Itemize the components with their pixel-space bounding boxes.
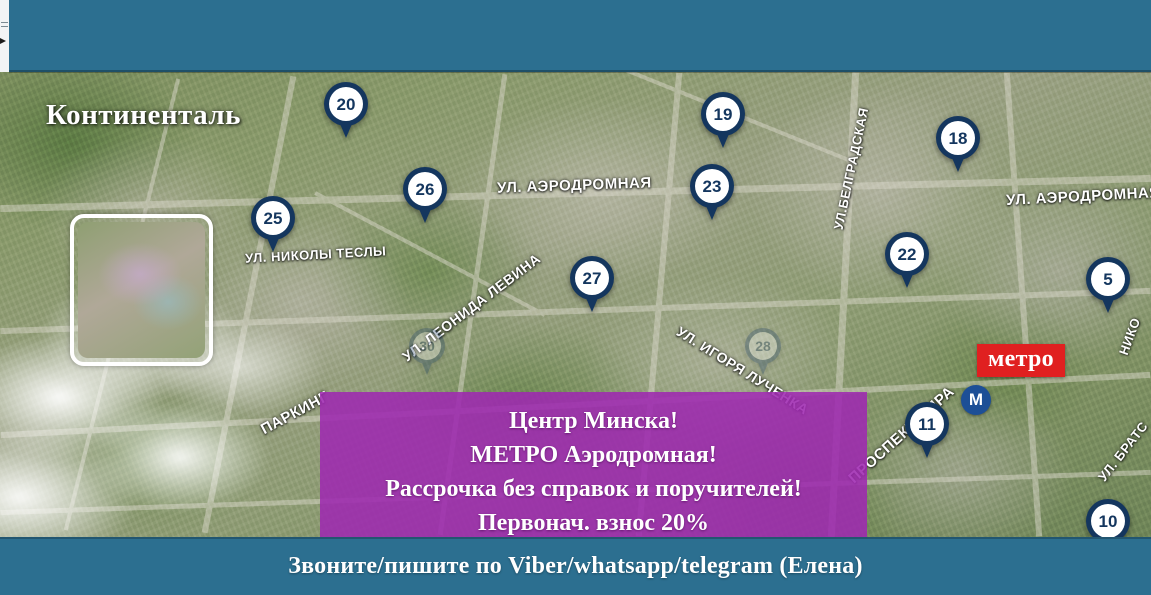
caret-right-icon[interactable]	[0, 38, 6, 44]
promo-line-2: МЕТРО Аэродромная!	[470, 438, 716, 472]
map-pin-11[interactable]: 11	[905, 402, 949, 460]
map-pin-5[interactable]: 5	[1086, 257, 1130, 315]
pin-number: 19	[706, 97, 740, 131]
pin-number: 28	[749, 332, 777, 360]
promo-slide: Континенталь УЛ. АЭРОДРОМНАЯ УЛ. АЭРОДРО…	[0, 0, 1151, 595]
pin-number: 5	[1091, 262, 1125, 296]
highlighted-complex-box[interactable]	[70, 214, 213, 366]
pin-number: 23	[695, 169, 729, 203]
bottom-banner-edge	[0, 537, 1151, 539]
pin-number: 22	[890, 237, 924, 271]
map-pin-26[interactable]: 26	[403, 167, 447, 225]
page-title: Континенталь	[46, 99, 241, 132]
map-pin-25[interactable]: 25	[251, 196, 295, 254]
bottom-banner: Звоните/пишите по Viber/whatsapp/telegra…	[0, 537, 1151, 595]
map-pin-22[interactable]: 22	[885, 232, 929, 290]
highlighted-complex-fill	[78, 222, 205, 358]
map-pin-20[interactable]: 20	[324, 82, 368, 140]
pin-number: 20	[329, 87, 363, 121]
edge-tick-2	[1, 26, 8, 27]
satellite-map[interactable]: Континенталь УЛ. АЭРОДРОМНАЯ УЛ. АЭРОДРО…	[0, 72, 1151, 537]
pin-number: 30	[413, 332, 441, 360]
map-pin-19[interactable]: 19	[701, 92, 745, 150]
pin-number: 26	[408, 172, 442, 206]
pin-number: 18	[941, 121, 975, 155]
promo-line-3: Рассрочка без справок и поручителей!	[385, 472, 802, 506]
pin-number: 27	[575, 261, 609, 295]
left-edge-strip	[0, 0, 9, 72]
map-pin-10[interactable]: 10	[1086, 499, 1130, 537]
map-pin-27[interactable]: 27	[570, 256, 614, 314]
pin-number: 10	[1091, 504, 1125, 537]
map-pin-23[interactable]: 23	[690, 164, 734, 222]
top-banner	[0, 0, 1151, 72]
map-pin-28[interactable]: 28	[745, 328, 781, 376]
pin-number: 25	[256, 201, 290, 235]
edge-tick-1	[1, 22, 8, 23]
map-pin-18[interactable]: 18	[936, 116, 980, 174]
metro-station-icon[interactable]: М	[961, 385, 991, 415]
promo-line-4: Первонач. взнос 20%	[478, 506, 709, 537]
contact-text: Звоните/пишите по Viber/whatsapp/telegra…	[288, 553, 862, 580]
map-pin-30[interactable]: 30	[409, 328, 445, 376]
pin-number: 11	[910, 407, 944, 441]
top-banner-shadow	[9, 70, 1151, 73]
promo-line-1: Центр Минска!	[509, 404, 678, 438]
metro-label[interactable]: метро	[977, 344, 1065, 377]
promo-overlay: Центр Минска! МЕТРО Аэродромная! Рассроч…	[320, 392, 867, 537]
